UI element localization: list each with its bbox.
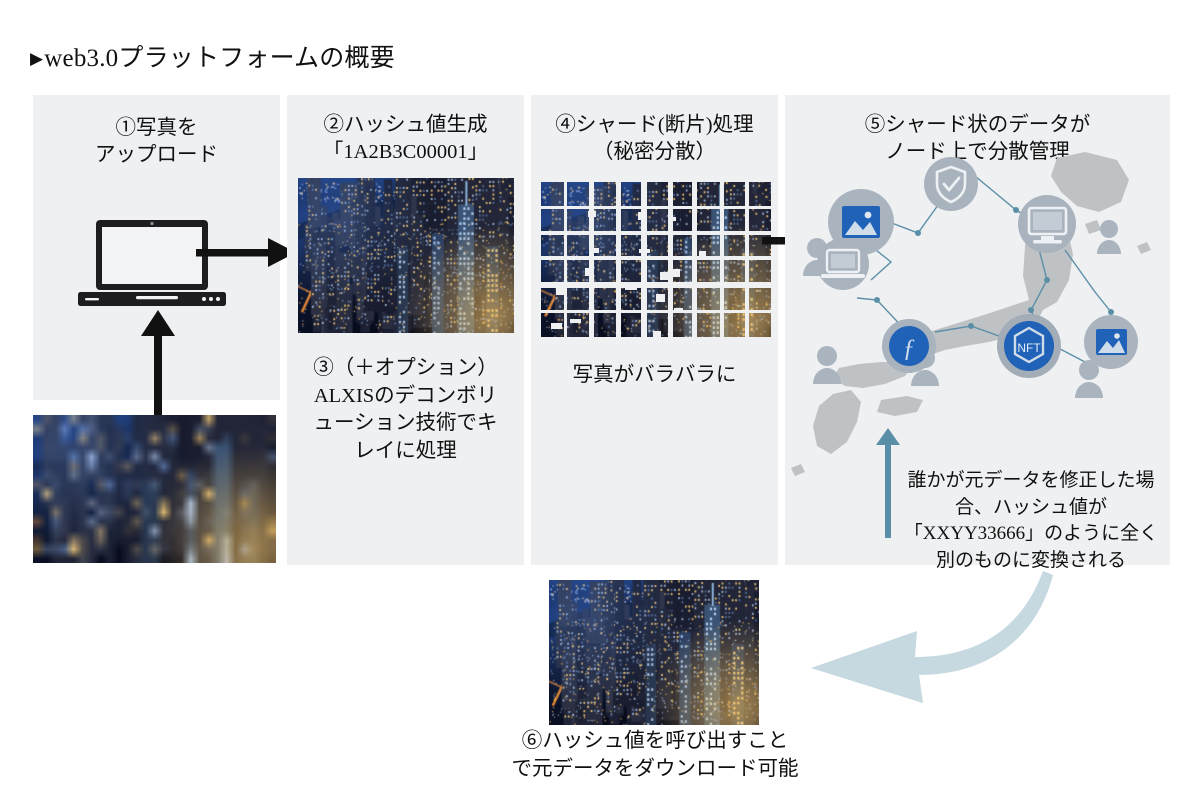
- currency-node[interactable]: ƒ: [882, 319, 936, 373]
- nft-node-label: NFT: [1017, 341, 1041, 355]
- blurred-cityscape-photo: [33, 415, 276, 563]
- laptop-node[interactable]: [817, 238, 869, 290]
- restored-cityscape-photo: [549, 580, 759, 725]
- monitor-node[interactable]: [1018, 195, 1076, 253]
- shield-node[interactable]: [924, 157, 978, 211]
- image-node-2[interactable]: [1084, 315, 1138, 369]
- panel-hash-heading: ②ハッシュ値生成 「1A2B3C00001」: [281, 112, 530, 167]
- page-title-text: web3.0プラットフォームの概要: [44, 45, 395, 72]
- arrow-panel1-to-panel2: [196, 238, 296, 268]
- hash-change-note: 誰かが元データを修正した場 合、ハッシュ値が 「XXYY33666」のように全く…: [880, 468, 1182, 574]
- nft-node[interactable]: NFT: [997, 314, 1061, 378]
- panel-upload-heading: ①写真を アップロード: [33, 115, 280, 170]
- slide-canvas: ▶web3.0プラットフォームの概要 ①写真を アップロード ②ハッシュ値生成 …: [0, 0, 1200, 800]
- final-caption: ⑥ハッシュ値を呼び出すこと で元データをダウンロード可能: [430, 728, 880, 783]
- panel-hash-caption: ③（＋オプション） ALXISのデコンボリ ューション技術でキ レイに処理: [283, 355, 528, 466]
- arrow-download-curved: [785, 565, 1055, 710]
- japan-map-node-network: ƒ NFT: [785, 150, 1170, 500]
- arrow-upload-up: [138, 310, 178, 430]
- svg-text:ƒ: ƒ: [903, 335, 916, 362]
- panel-shard-caption: 写真がバラバラに: [531, 362, 778, 390]
- night-cityscape-photo: [298, 178, 514, 333]
- panel-shard-heading: ④シャード(断片)処理 （秘密分散）: [526, 112, 783, 167]
- shattered-cityscape-grid: [541, 182, 771, 337]
- triangle-bullet-icon: ▶: [30, 49, 43, 68]
- page-title: ▶web3.0プラットフォームの概要: [30, 38, 395, 74]
